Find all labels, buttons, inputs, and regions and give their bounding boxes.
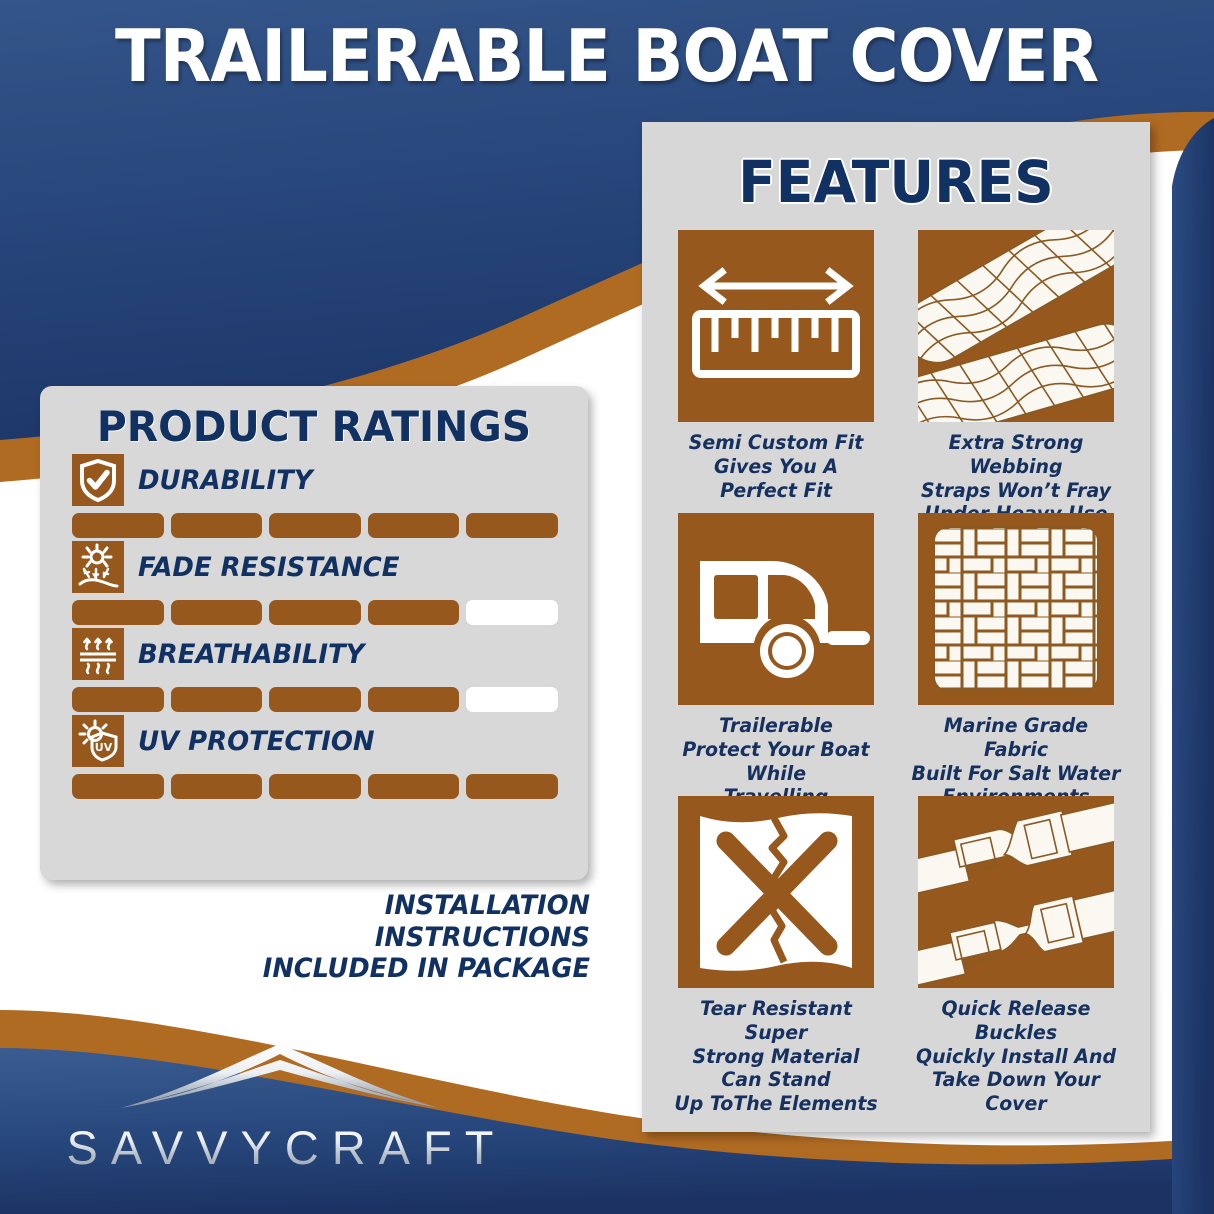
feature-caption-line2: Gives You A — [689, 455, 864, 479]
rating-segment — [269, 600, 361, 625]
brand-logo: SAVVYCRAFT — [30, 1040, 530, 1200]
tear-resistant-icon — [678, 796, 874, 988]
braided-rope-icon — [918, 230, 1114, 422]
rating-label: DURABILITY — [138, 465, 313, 496]
rating-bar — [72, 774, 558, 799]
rating-segment — [171, 513, 263, 538]
feature-caption: Trailerable Protect Your Boat While Trav… — [671, 714, 881, 790]
installation-note-line2: INCLUDED IN PACKAGE — [182, 953, 591, 985]
svg-text:UV: UV — [95, 741, 113, 754]
feature-cell: Trailerable Protect Your Boat While Trav… — [668, 513, 884, 790]
product-ratings-panel: PRODUCT RATINGS DURABILITY — [40, 386, 588, 880]
rating-label: FADE RESISTANCE — [138, 552, 399, 583]
feature-caption-line2: Protect Your Boat While — [671, 738, 881, 786]
rating-segment — [171, 600, 263, 625]
page-title: TRAILERABLE BOAT COVER — [0, 8, 1214, 104]
sun-fade-icon — [72, 541, 124, 593]
rating-segment — [368, 687, 460, 712]
feature-caption-line2: Built For Salt Water — [911, 762, 1121, 786]
rating-segment — [72, 600, 164, 625]
rating-label: BREATHABILITY — [138, 639, 364, 670]
infographic-canvas: TRAILERABLE BOAT COVER PRODUCT RATINGS D… — [0, 0, 1214, 1214]
feature-caption-line3: Take Down Your Cover — [911, 1068, 1121, 1116]
rating-segment — [171, 687, 263, 712]
rating-row: DURABILITY — [40, 451, 588, 538]
rating-segment — [368, 513, 460, 538]
rating-header: BREATHABILITY — [40, 625, 588, 683]
feature-caption: Marine Grade Fabric Built For Salt Water… — [911, 714, 1121, 790]
rating-segment — [368, 774, 460, 799]
boat-hull-swoosh-icon — [115, 1040, 445, 1116]
rating-segment — [269, 687, 361, 712]
rating-segment — [368, 600, 460, 625]
feature-caption-line1: Marine Grade Fabric — [911, 714, 1121, 762]
rating-segment — [269, 774, 361, 799]
feature-caption: Semi Custom Fit Gives You A Perfect Fit — [689, 431, 864, 507]
installation-note: INSTALLATION INSTRUCTIONS INCLUDED IN PA… — [182, 890, 591, 985]
feature-cell: Quick Release Buckles Quickly Install An… — [908, 796, 1124, 1073]
rating-bar — [72, 687, 558, 712]
feature-caption-line3: Up ToThe Elements — [671, 1092, 881, 1116]
rating-row: UV UV PROTECTION — [40, 712, 588, 799]
feature-cell: Tear Resistant Super Strong Material Can… — [668, 796, 884, 1073]
feature-caption-line2: Quickly Install And — [911, 1045, 1121, 1069]
feature-cell: Semi Custom Fit Gives You A Perfect Fit — [668, 230, 884, 507]
ratings-title: PRODUCT RATINGS — [48, 386, 580, 451]
feature-cell: Marine Grade Fabric Built For Salt Water… — [908, 513, 1124, 790]
feature-caption-line1: Semi Custom Fit — [689, 431, 864, 455]
woven-fabric-icon — [918, 513, 1114, 705]
rating-bar — [72, 513, 558, 538]
feature-caption-line1: Extra Strong Webbing — [911, 431, 1121, 479]
rating-segment — [466, 774, 558, 799]
rating-header: FADE RESISTANCE — [40, 538, 588, 596]
rating-segment — [466, 513, 558, 538]
rating-segment — [72, 687, 164, 712]
features-title: FEATURES — [655, 122, 1138, 216]
feature-cell: Extra Strong Webbing Straps Won’t Fray U… — [908, 230, 1124, 507]
feature-caption-line1: Quick Release Buckles — [911, 997, 1121, 1045]
rating-bar — [72, 600, 558, 625]
rating-segment — [72, 774, 164, 799]
brand-name: SAVVYCRAFT — [30, 1120, 530, 1175]
feature-caption: Tear Resistant Super Strong Material Can… — [671, 997, 881, 1073]
rating-row: FADE RESISTANCE — [40, 538, 588, 625]
uv-shield-icon: UV — [72, 715, 124, 767]
shield-check-icon — [72, 454, 124, 506]
trailer-icon — [678, 513, 874, 705]
page-title-text: TRAILERABLE BOAT COVER — [115, 14, 1098, 98]
installation-note-line1: INSTALLATION INSTRUCTIONS — [182, 890, 591, 953]
rating-segment — [72, 513, 164, 538]
rating-row: BREATHABILITY — [40, 625, 588, 712]
rating-header: DURABILITY — [40, 451, 588, 509]
feature-caption-line3: Perfect Fit — [689, 479, 864, 503]
rating-header: UV UV PROTECTION — [40, 712, 588, 770]
ruler-measure-icon — [678, 230, 874, 422]
feature-caption: Quick Release Buckles Quickly Install An… — [911, 997, 1121, 1073]
rating-segment — [171, 774, 263, 799]
feature-caption: Extra Strong Webbing Straps Won’t Fray U… — [911, 431, 1121, 507]
features-panel: FEATURES — [642, 122, 1150, 1132]
rating-segment-empty — [466, 687, 558, 712]
feature-caption-line1: Tear Resistant Super — [671, 997, 881, 1045]
rating-label: UV PROTECTION — [138, 726, 375, 757]
rating-segment-empty — [466, 600, 558, 625]
quick-release-buckle-icon — [918, 796, 1114, 988]
feature-caption-line2: Straps Won’t Fray — [911, 479, 1121, 503]
features-grid: Semi Custom Fit Gives You A Perfect Fit — [642, 216, 1150, 1073]
air-flow-icon — [72, 628, 124, 680]
feature-caption-line2: Strong Material Can Stand — [671, 1045, 881, 1093]
rating-segment — [269, 513, 361, 538]
feature-caption-line1: Trailerable — [671, 714, 881, 738]
